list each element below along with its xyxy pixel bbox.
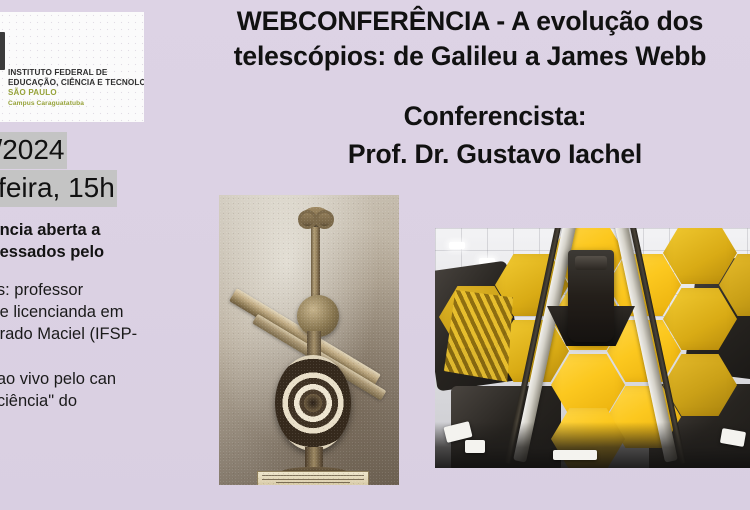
logo-line-4: Campus Caraguatatuba [8, 100, 140, 108]
open-note-line-1: conferência aberta a [0, 219, 180, 241]
date-row: 4/11/2024 [0, 132, 180, 169]
secondary-mirror-housing [568, 250, 614, 342]
weekday-row: nda-feira, 15h [0, 170, 180, 207]
details-line-3: asmin Prado Maciel (IFSP- [0, 323, 180, 345]
speaker-block: Conferencista: Prof. Dr. Gustavo Iachel [240, 98, 750, 173]
james-webb-telescope-photo [435, 228, 750, 468]
antique-telescope-photo [219, 195, 399, 485]
presentation-slide: INSTITUTO FEDERAL DE EDUCAÇÃO, CIÊNCIA E… [0, 0, 750, 510]
open-note-line-2: os interessados pelo [0, 241, 180, 263]
event-details: onsáveis: professor o Plaza e licenciand… [0, 279, 180, 434]
ceiling-lamp [449, 242, 465, 249]
logo-line-2: EDUCAÇÃO, CIÊNCIA E TECNOLOGIA [8, 78, 140, 88]
speaker-name: Prof. Dr. Gustavo Iachel [240, 136, 750, 174]
ifsp-logo-text: INSTITUTO FEDERAL DE EDUCAÇÃO, CIÊNCIA E… [8, 68, 140, 108]
speaker-label: Conferencista: [240, 98, 750, 136]
ground-equipment [553, 450, 597, 460]
event-weekday-time: nda-feira, 15h [0, 170, 117, 207]
details-line-7: be [0, 412, 180, 434]
ifsp-logo-card: INSTITUTO FEDERAL DE EDUCAÇÃO, CIÊNCIA E… [0, 12, 144, 122]
logo-line-3: SÃO PAULO [8, 88, 140, 97]
event-date: 4/11/2024 [0, 132, 67, 169]
details-line-4: atatuba) [0, 345, 180, 367]
ifsp-logo-icon [0, 28, 6, 74]
title-line-1: WEBCONFERÊNCIA - A evolução dos [180, 4, 750, 39]
title-line-2: telescópios: de Galileu a James Webb [180, 39, 750, 74]
details-line-1: onsáveis: professor [0, 279, 180, 301]
event-info-column: 4/11/2024 nda-feira, 15h conferência abe… [0, 132, 180, 434]
slide-title: WEBCONFERÊNCIA - A evolução dos telescóp… [180, 4, 750, 74]
ground-equipment [465, 440, 485, 453]
details-line-5: missão ao vivo pelo can [0, 368, 180, 390]
logo-line-1: INSTITUTO FEDERAL DE [8, 68, 140, 78]
details-line-6: te Consciência" do [0, 390, 180, 412]
details-line-2: o Plaza e licencianda em [0, 301, 180, 323]
event-open-note: conferência aberta a os interessados pel… [0, 219, 180, 263]
telescope-photo-grain [219, 195, 399, 485]
